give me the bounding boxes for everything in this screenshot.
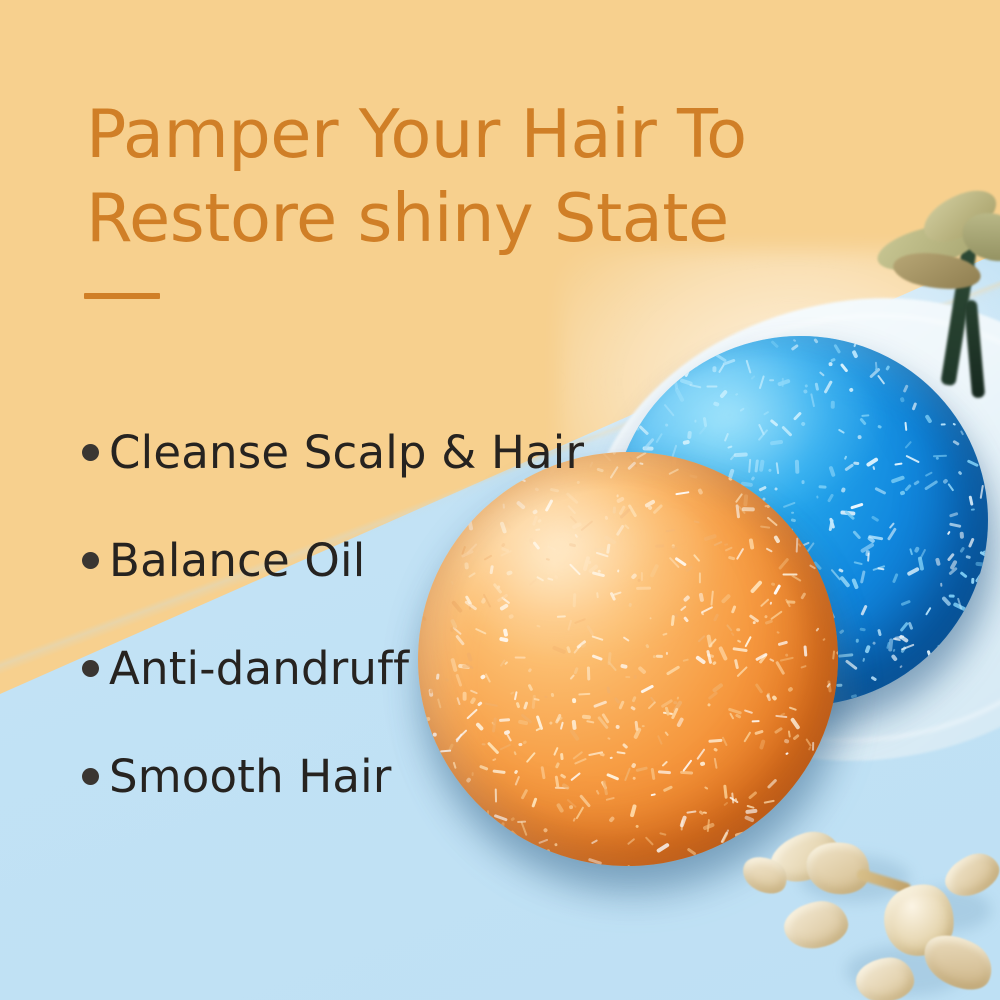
bullet-dot-icon — [82, 552, 99, 569]
bullet-dot-icon — [82, 660, 99, 677]
product-infographic-banner: Pamper Your Hair To Restore shiny State … — [0, 0, 1000, 1000]
list-item: Smooth Hair — [82, 722, 642, 830]
benefit-label: Smooth Hair — [109, 750, 392, 803]
benefit-label: Cleanse Scalp & Hair — [109, 426, 584, 479]
headline-underline-rule — [84, 293, 160, 299]
list-item: Balance Oil — [82, 506, 642, 614]
list-item: Anti-dandruff — [82, 614, 642, 722]
benefit-label: Balance Oil — [109, 534, 365, 587]
page-title: Pamper Your Hair To Restore shiny State — [86, 92, 906, 261]
benefits-list: Cleanse Scalp & Hair Balance Oil Anti-da… — [82, 398, 642, 830]
benefit-label: Anti-dandruff — [109, 642, 409, 695]
bullet-dot-icon — [82, 768, 99, 785]
bullet-dot-icon — [82, 444, 99, 461]
list-item: Cleanse Scalp & Hair — [82, 398, 642, 506]
